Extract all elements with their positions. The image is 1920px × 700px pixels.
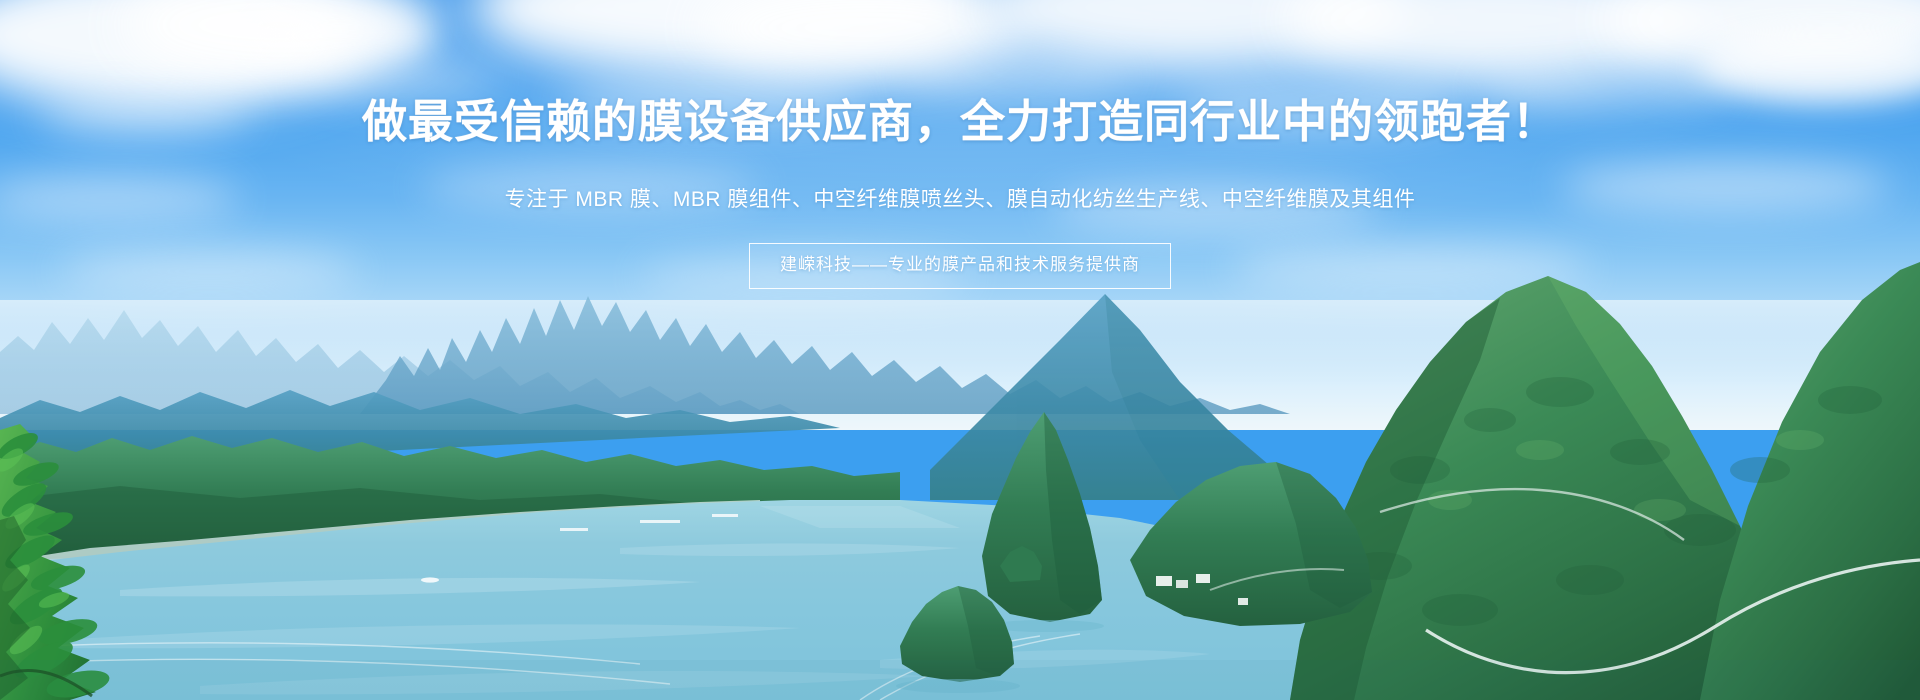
banner-headline: 做最受信赖的膜设备供应商，全力打造同行业中的领跑者！ <box>0 96 1920 148</box>
banner-tagline-box: 建嵘科技——专业的膜产品和技术服务提供商 <box>749 243 1171 289</box>
tagline-box-wrapper: 建嵘科技——专业的膜产品和技术服务提供商 <box>0 243 1920 289</box>
hero-banner: 做最受信赖的膜设备供应商，全力打造同行业中的领跑者！ 专注于 MBR 膜、MBR… <box>0 0 1920 700</box>
boat <box>421 577 439 582</box>
banner-subheadline: 专注于 MBR 膜、MBR 膜组件、中空纤维膜喷丝头、膜自动化纺丝生产线、中空纤… <box>0 185 1920 215</box>
